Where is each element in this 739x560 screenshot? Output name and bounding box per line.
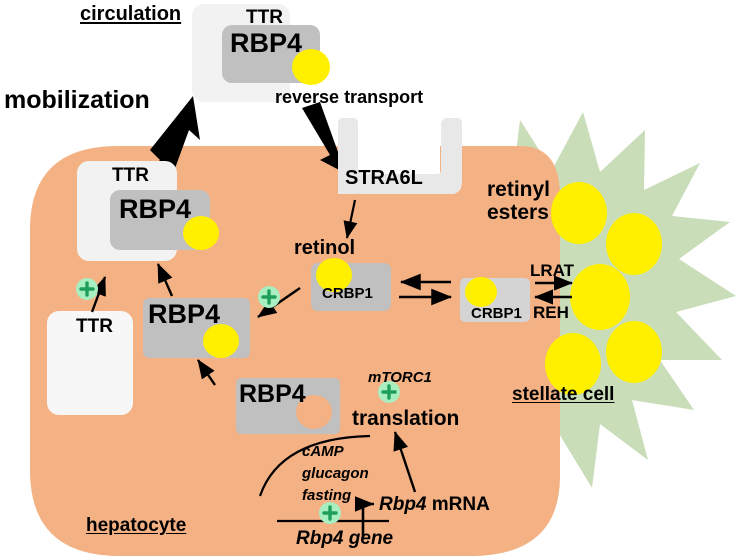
camp-label: cAMP bbox=[302, 444, 344, 459]
circulation-ttr-label: TTR bbox=[246, 8, 283, 27]
retinol-label: retinol bbox=[294, 238, 355, 258]
rbp4-gene-label: Rbp4 gene bbox=[296, 529, 393, 548]
fasting-label: fasting bbox=[302, 488, 351, 503]
hepatocyte-free-ttr-label: TTR bbox=[76, 317, 113, 336]
mobilization-label: mobilization bbox=[4, 88, 150, 113]
hepatocyte-complex-ttr-label: TTR bbox=[112, 166, 149, 185]
rbp4-mrna-gene-italic: Rbp4 bbox=[379, 494, 427, 515]
lrat-label: LRAT bbox=[530, 262, 574, 279]
plus-circle-ttr-secretion bbox=[76, 278, 98, 300]
circulation-label: circulation bbox=[80, 4, 181, 24]
mtorc1-label: mTORC1 bbox=[368, 370, 432, 385]
plus-circle-retinol-loading bbox=[258, 286, 280, 308]
stra6l-label: STRA6L bbox=[345, 168, 423, 188]
stellate-crbp1-label: CRBP1 bbox=[471, 306, 522, 321]
diagram-canvas: circulation mobilization reverse transpo… bbox=[0, 0, 739, 560]
retinyl-esters-line2: esters bbox=[487, 202, 550, 225]
hepatocyte-apo-rbp4-label: RBP4 bbox=[239, 382, 306, 407]
reverse-transport-label: reverse transport bbox=[275, 88, 423, 106]
hepatocyte-crbp1-label: CRBP1 bbox=[322, 286, 373, 301]
hepatocyte-complex-rbp4-label: RBP4 bbox=[119, 196, 191, 223]
circulation-rbp4-label: RBP4 bbox=[230, 30, 302, 57]
plus-circle-transcription bbox=[319, 502, 341, 524]
rbp4-mrna-suffix: mRNA bbox=[427, 494, 490, 515]
glucagon-label: glucagon bbox=[302, 466, 369, 481]
hepatocyte-label: hepatocyte bbox=[86, 516, 186, 535]
rbp4-mrna-label: Rbp4 mRNA bbox=[379, 495, 490, 514]
retinyl-esters-label: retinyl esters bbox=[487, 179, 550, 224]
retinyl-esters-line1: retinyl bbox=[487, 179, 550, 202]
reh-label: REH bbox=[533, 304, 569, 321]
translation-label: translation bbox=[352, 408, 459, 429]
stellate-cell-label: stellate cell bbox=[512, 385, 614, 404]
hepatocyte-holo-rbp4-label: RBP4 bbox=[148, 301, 220, 328]
